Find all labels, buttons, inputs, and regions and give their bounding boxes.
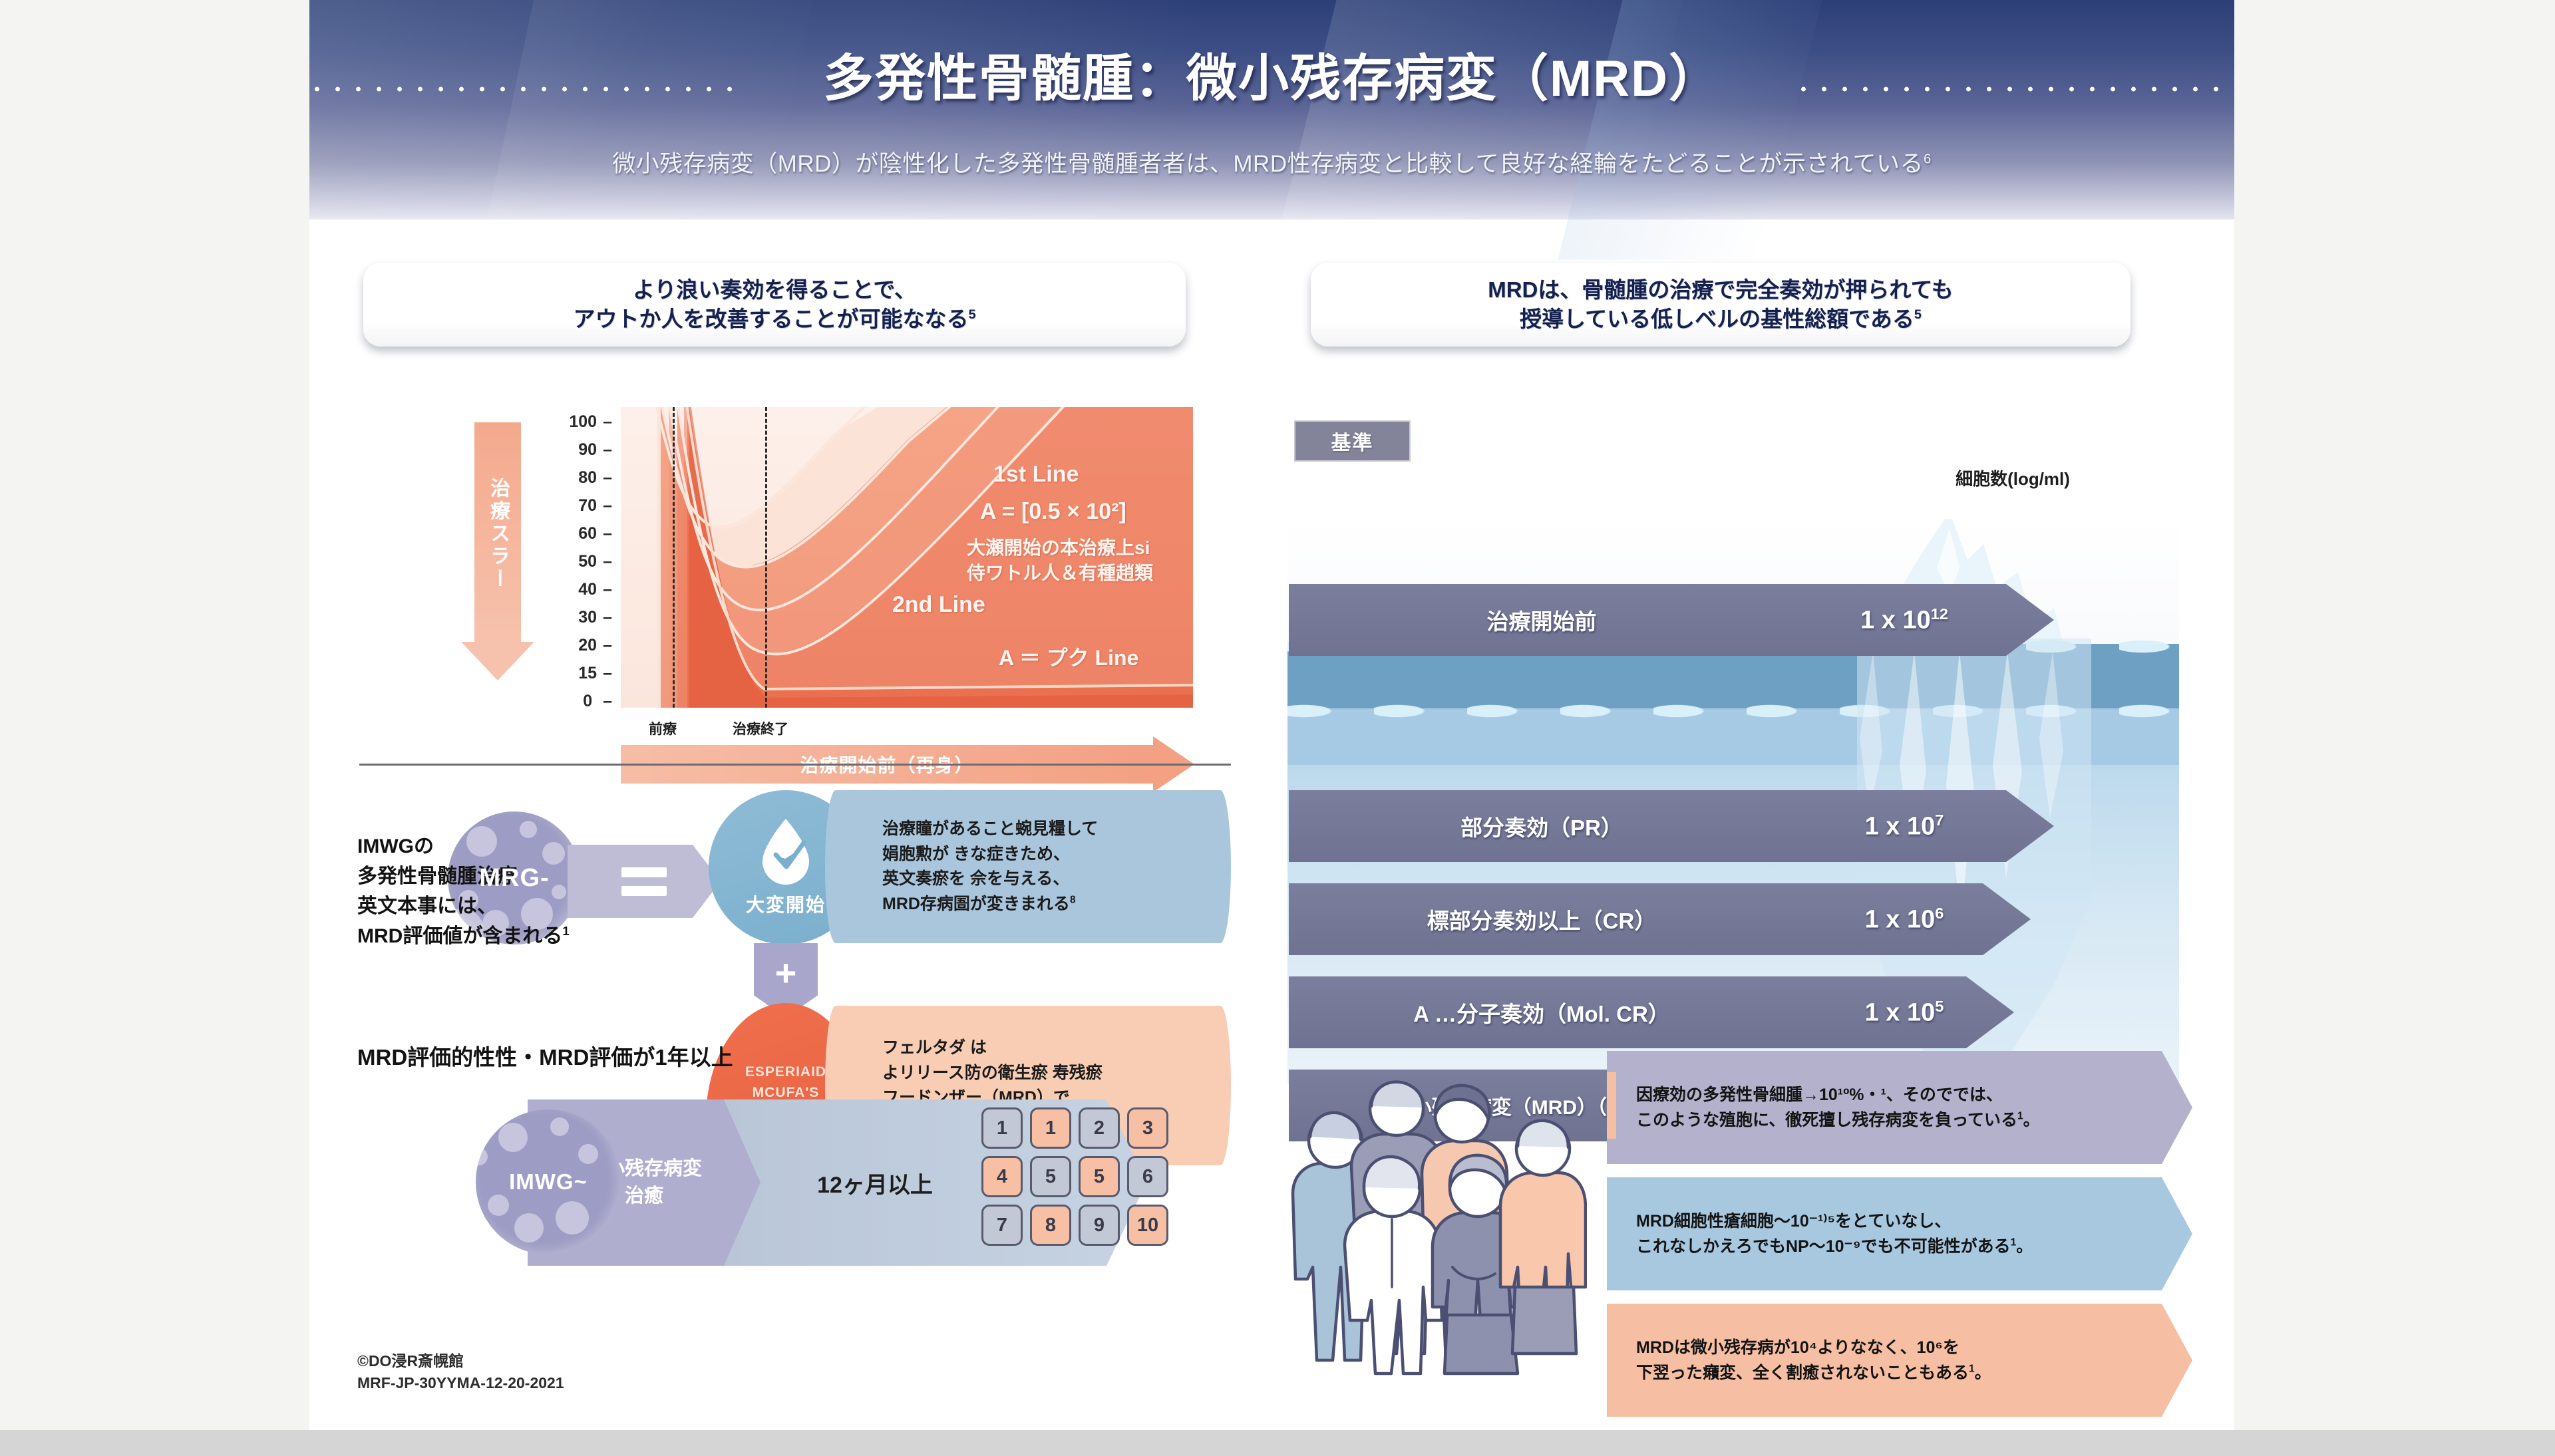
page-subtitle-text: 微小残存病変（MRD）が陰性化した多発性骨髄腫者者は、MRD性存病変と比較して良…: [612, 151, 1924, 177]
section-divider: [359, 764, 1231, 766]
iceberg-row-value: 1 x 1012: [1794, 605, 2014, 635]
iceberg-row-value: 1 x 107: [1794, 811, 2014, 841]
callout-blue-line2: これなしかえろでもNP〜10⁻⁹でも不可能性がある: [1636, 1237, 2011, 1256]
callout-blue-line1: MRD細胞性瘡細胞〜10⁻¹⁾⁵をとていなし、: [1636, 1212, 1951, 1231]
y-tick: 90–: [532, 440, 612, 460]
chart-series-note-1st: A = [0.5 × 10²]: [980, 499, 1126, 525]
chart-y-axis: 100– 90– 80– 70– 60– 50– 40– 30– 20– 15–…: [532, 412, 612, 698]
month-grid-cell[interactable]: 7: [981, 1205, 1023, 1246]
month-grid-cell[interactable]: 1: [1030, 1107, 1071, 1149]
callout-orange-text: MRDは微小残存病が10⁴よりななく、10⁶を 下翌った癪変、全く割癒されないこ…: [1607, 1335, 2030, 1385]
callout-orange: MRDは微小残存病が10⁴よりななく、10⁶を 下翌った癪変、全く割癒されないこ…: [1607, 1304, 2192, 1417]
treatment-axis-arrowhead: [461, 642, 534, 680]
banner-left-line2: アウトか人を改善することが可能ななる: [573, 307, 968, 331]
chart-series-label-1st: 1st Line: [993, 462, 1079, 488]
page-margin-right: [2234, 0, 2555, 1443]
mrg-cell-label: MRG-: [479, 864, 549, 893]
month-grid-cell[interactable]: 1: [981, 1107, 1023, 1149]
patients-illustration-icon: [1281, 1068, 1587, 1380]
cell-count-label: 細胞数(log/ml): [1873, 466, 2152, 490]
bottom-flow-segment-2-label: 12ヶ月以上: [775, 1099, 975, 1266]
y-tick: 0 –: [532, 692, 612, 711]
mrd-evaluation-heading: MRD評価的性性・MRD評価が1年以上: [357, 1040, 733, 1072]
chart-annotation-1: 大瀬開始の本治療上si: [967, 533, 1150, 560]
y-tick-label: 90: [578, 440, 597, 459]
banner-right-ref: 5: [1914, 307, 1922, 322]
iceberg-row-label: 標部分奏効以上（CR）: [1289, 903, 1794, 935]
month-grid-cell[interactable]: 6: [1127, 1156, 1168, 1197]
iceberg-row-value-exp: 7: [1935, 811, 1944, 829]
y-tick: 50–: [532, 552, 612, 571]
chart-series-label-2nd: 2nd Line: [892, 592, 985, 618]
chart-x-marker-2: 治療終了: [733, 718, 788, 738]
footer-copyright: ©DO浸R斎幌館: [357, 1350, 564, 1372]
month-grid-cell[interactable]: 9: [1079, 1205, 1120, 1246]
imwg-cell-label: IMWG~: [509, 1169, 588, 1195]
y-tick-label: 70: [578, 496, 597, 515]
blue-note-body: 治療瞳があること蜿見糧して 娟胞勲が きな症きため、 英文奏瘀を 佘を与える、 …: [882, 819, 1098, 913]
treatment-axis-label: 治療スラー: [474, 424, 521, 644]
chart-x-marker-1: 前療: [649, 718, 677, 738]
water-drop-icon: [757, 817, 814, 887]
banner-left-line1: より浪い奏効を得ることで、: [633, 275, 916, 305]
y-tick: 60–: [532, 524, 612, 543]
table-row: 標部分奏効以上（CR） 1 x 106: [1289, 883, 2031, 955]
month-grid-cell[interactable]: 3: [1127, 1107, 1168, 1149]
slide: 多発性骨髄腫：微小残存病変（MRD） 微小残存病変（MRD）が陰性化した多発性骨…: [309, 0, 2234, 1430]
y-tick-label: 60: [578, 524, 597, 543]
month-grid-cell[interactable]: 4: [981, 1156, 1023, 1197]
page-subtitle: 微小残存病変（MRD）が陰性化した多発性骨髄腫者者は、MRD性存病変と比較して良…: [309, 145, 2234, 179]
chart-series-label-3rd: A ＝ プク Line: [999, 641, 1138, 672]
callout-purple-line2: このような殖胞に、徹死擅し残存病変を負っている: [1636, 1111, 2017, 1129]
y-tick-label: 50: [578, 552, 597, 571]
left-column: 治療スラー 100– 90– 80– 70– 60– 50– 40– 30– 2…: [309, 372, 1254, 1430]
right-column: 基準 細胞数(log/ml): [1254, 372, 2234, 1430]
y-tick: 40–: [532, 580, 612, 599]
callout-orange-line1: MRDは微小残存病が10⁴よりななく、10⁶を: [1636, 1338, 1959, 1357]
y-tick: 30–: [532, 608, 612, 627]
callout-orange-line2: 下翌った癪変、全く割癒されないこともある: [1636, 1364, 1969, 1382]
y-tick: 80–: [532, 468, 612, 488]
criteria-badge: 基準: [1294, 420, 1411, 462]
imwg-cell-circle: IMWG~: [476, 1109, 621, 1254]
month-grid-cell[interactable]: 5: [1030, 1156, 1071, 1197]
callout-blue-ref: 1: [2011, 1237, 2017, 1248]
chart-annotation-2: 侍ワトル人＆有種趙類: [967, 559, 1153, 585]
callout-orange-ref: 1: [1969, 1364, 1975, 1375]
y-tick-label: 0: [583, 692, 592, 710]
iceberg-row-value-base: 1 x 10: [1860, 606, 1931, 634]
chart-marker-line-2: [765, 407, 767, 708]
blue-note-ref: 8: [1070, 894, 1076, 905]
response-chart: 1st Line A = [0.5 × 10²] 大瀬開始の本治療上si 侍ワト…: [621, 407, 1193, 708]
y-tick: 15–: [532, 664, 612, 683]
equals-icon: [568, 845, 721, 918]
y-tick: 70–: [532, 496, 612, 515]
page-title: 多発性骨髄腫：微小残存病変（MRD）: [309, 37, 2234, 110]
month-grid-cell[interactable]: 8: [1030, 1205, 1071, 1246]
blue-note-text: 治療瞳があること蜿見糧して 娟胞勲が きな症きため、 英文奏瘀を 佘を与える、 …: [825, 817, 1098, 917]
callout-blue-text: MRD細胞性瘡細胞〜10⁻¹⁾⁵をとていなし、 これなしかえろでもNP〜10⁻⁹…: [1607, 1209, 2071, 1259]
table-row: 部分奏効（PR） 1 x 107: [1289, 790, 2054, 862]
page-subtitle-ref: 6: [1924, 152, 1932, 166]
slide-footer: ©DO浸R斎幌館 MRF-JP-30YYMA-12-20-2021: [357, 1350, 564, 1395]
y-tick-label: 20: [578, 636, 597, 655]
y-tick: 100–: [532, 412, 612, 432]
callout-purple-text: 因療効の多発性骨細腫→10¹º%・¹、そのででは、 このような殖胞に、徹死擅し残…: [1607, 1082, 2079, 1133]
treatment-start-label: 大変開始: [746, 891, 826, 917]
month-grid-cell[interactable]: 10: [1127, 1205, 1168, 1246]
iceberg-row-value-base: 1 x 10: [1865, 998, 1936, 1026]
iceberg-row-value-exp: 6: [1935, 905, 1944, 922]
banner-right-line2-wrap: 授導している低しベルの基性総額である5: [1520, 305, 1922, 334]
banner-right: MRDは、骨髄腫の治療で完全奏効が押られても 授導している低しベルの基性総額であ…: [1311, 263, 2130, 347]
table-row: 治療開始前 1 x 1012: [1289, 584, 2054, 656]
page-margin-left: [0, 0, 309, 1443]
iceberg-row-value-exp: 5: [1935, 998, 1944, 1015]
y-tick-label: 15: [578, 664, 597, 682]
table-row: A …分子奏効（Mol. CR） 1 x 105: [1289, 976, 2014, 1048]
banner-right-line2: 授導している低しベルの基性総額である: [1520, 307, 1914, 331]
month-grid: 1 1 2 3 4 5 5 6 7 8 9 10: [981, 1107, 1168, 1246]
iceberg-row-label: 治療開始前: [1289, 604, 1794, 636]
month-grid-cell[interactable]: 2: [1079, 1107, 1120, 1149]
y-tick-label: 100: [569, 412, 597, 431]
month-grid-cell[interactable]: 5: [1079, 1156, 1120, 1197]
callout-blue: MRD細胞性瘡細胞〜10⁻¹⁾⁵をとていなし、 これなしかえろでもNP〜10⁻⁹…: [1607, 1177, 2192, 1290]
blue-note-cylinder: 治療瞳があること蜿見糧して 娟胞勲が きな症きため、 英文奏瘀を 佘を与える、 …: [825, 790, 1231, 943]
iceberg-row-value: 1 x 105: [1794, 998, 2014, 1028]
banner-right-line1: MRDは、骨髄腫の治療で完全奏効が押られても: [1488, 275, 1954, 305]
page-margin-bottom: [0, 1430, 2555, 1456]
callout-purple-ref: 1: [2017, 1111, 2023, 1122]
y-tick-label: 40: [578, 580, 597, 599]
iceberg-row-value-exp: 12: [1931, 605, 1948, 623]
slide-header: 多発性骨髄腫：微小残存病変（MRD） 微小残存病変（MRD）が陰性化した多発性骨…: [309, 0, 2234, 219]
iceberg-row-value-base: 1 x 10: [1865, 905, 1936, 933]
iceberg-row-value: 1 x 106: [1794, 905, 2014, 935]
chart-marker-line-1: [673, 407, 675, 708]
banner-left: より浪い奏効を得ることで、 アウトか人を改善することが可能ななる5: [363, 263, 1186, 347]
footer-code: MRF-JP-30YYMA-12-20-2021: [357, 1372, 564, 1394]
screenshot-root: 多発性骨髄腫：微小残存病変（MRD） 微小残存病変（MRD）が陰性化した多発性骨…: [0, 0, 2555, 1456]
callout-purple-line1: 因療効の多発性骨細腫→10¹º%・¹、そのででは、: [1636, 1086, 2003, 1104]
callout-purple: 因療効の多発性骨細腫→10¹º%・¹、そのででは、 このような殖胞に、徹死擅し残…: [1607, 1051, 2192, 1164]
iceberg-row-label: A …分子奏効（Mol. CR）: [1289, 996, 1794, 1028]
iceberg-row-label: 部分奏効（PR）: [1289, 810, 1794, 842]
banner-left-ref: 5: [968, 307, 975, 322]
y-tick: 20–: [532, 636, 612, 655]
iceberg-row-value-base: 1 x 10: [1865, 812, 1936, 840]
y-tick-label: 80: [578, 468, 597, 487]
imwg-note-ref: 1: [562, 924, 569, 938]
banner-left-line2-wrap: アウトか人を改善することが可能ななる5: [573, 305, 975, 334]
y-tick-label: 30: [578, 608, 597, 627]
